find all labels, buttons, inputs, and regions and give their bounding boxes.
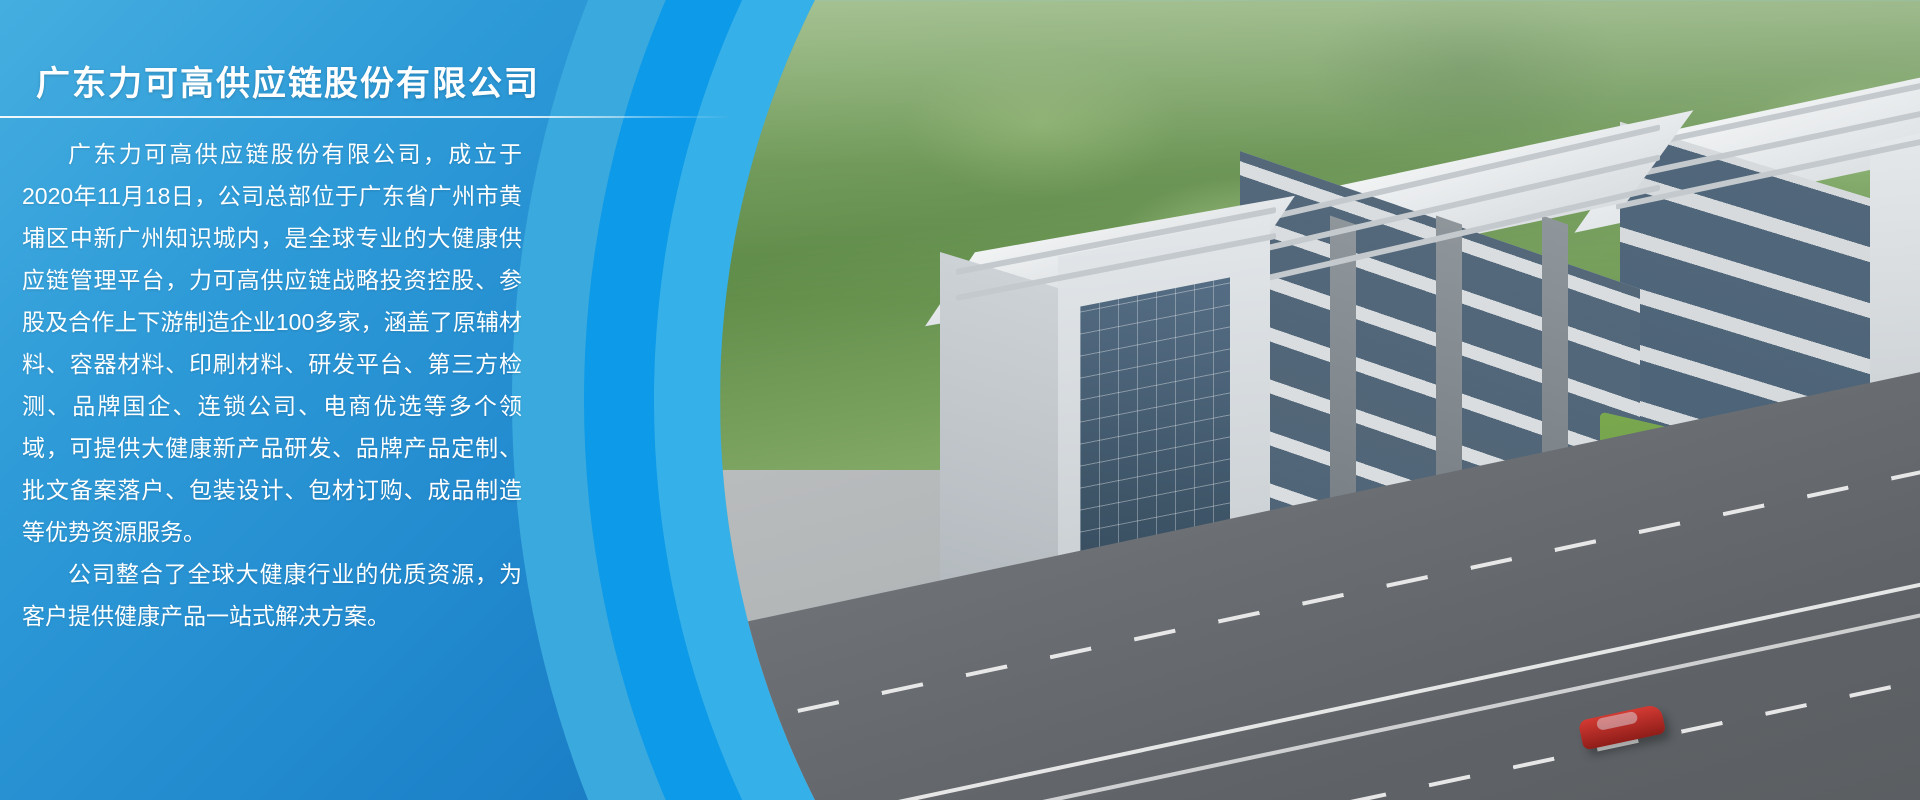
- company-description: 广东力可高供应链股份有限公司，成立于2020年11月18日，公司总部位于广东省广…: [22, 133, 522, 637]
- facility-photo: 力可高医药产业园: [720, 0, 1920, 800]
- description-paragraph-2: 公司整合了全球大健康行业的优质资源，为客户提供健康产品一站式解决方案。: [22, 553, 522, 637]
- facility-photo-scene: 力可高医药产业园: [720, 0, 1920, 800]
- road-edge-line: [762, 571, 1920, 800]
- page-title: 广东力可高供应链股份有限公司: [36, 56, 540, 105]
- title-divider: [0, 116, 732, 118]
- banner-root: 力可高医药产业园: [0, 0, 1920, 800]
- description-paragraph-1: 广东力可高供应链股份有限公司，成立于2020年11月18日，公司总部位于广东省广…: [22, 133, 522, 553]
- intro-panel: 广东力可高供应链股份有限公司 广东力可高供应链股份有限公司，成立于2020年11…: [0, 0, 760, 800]
